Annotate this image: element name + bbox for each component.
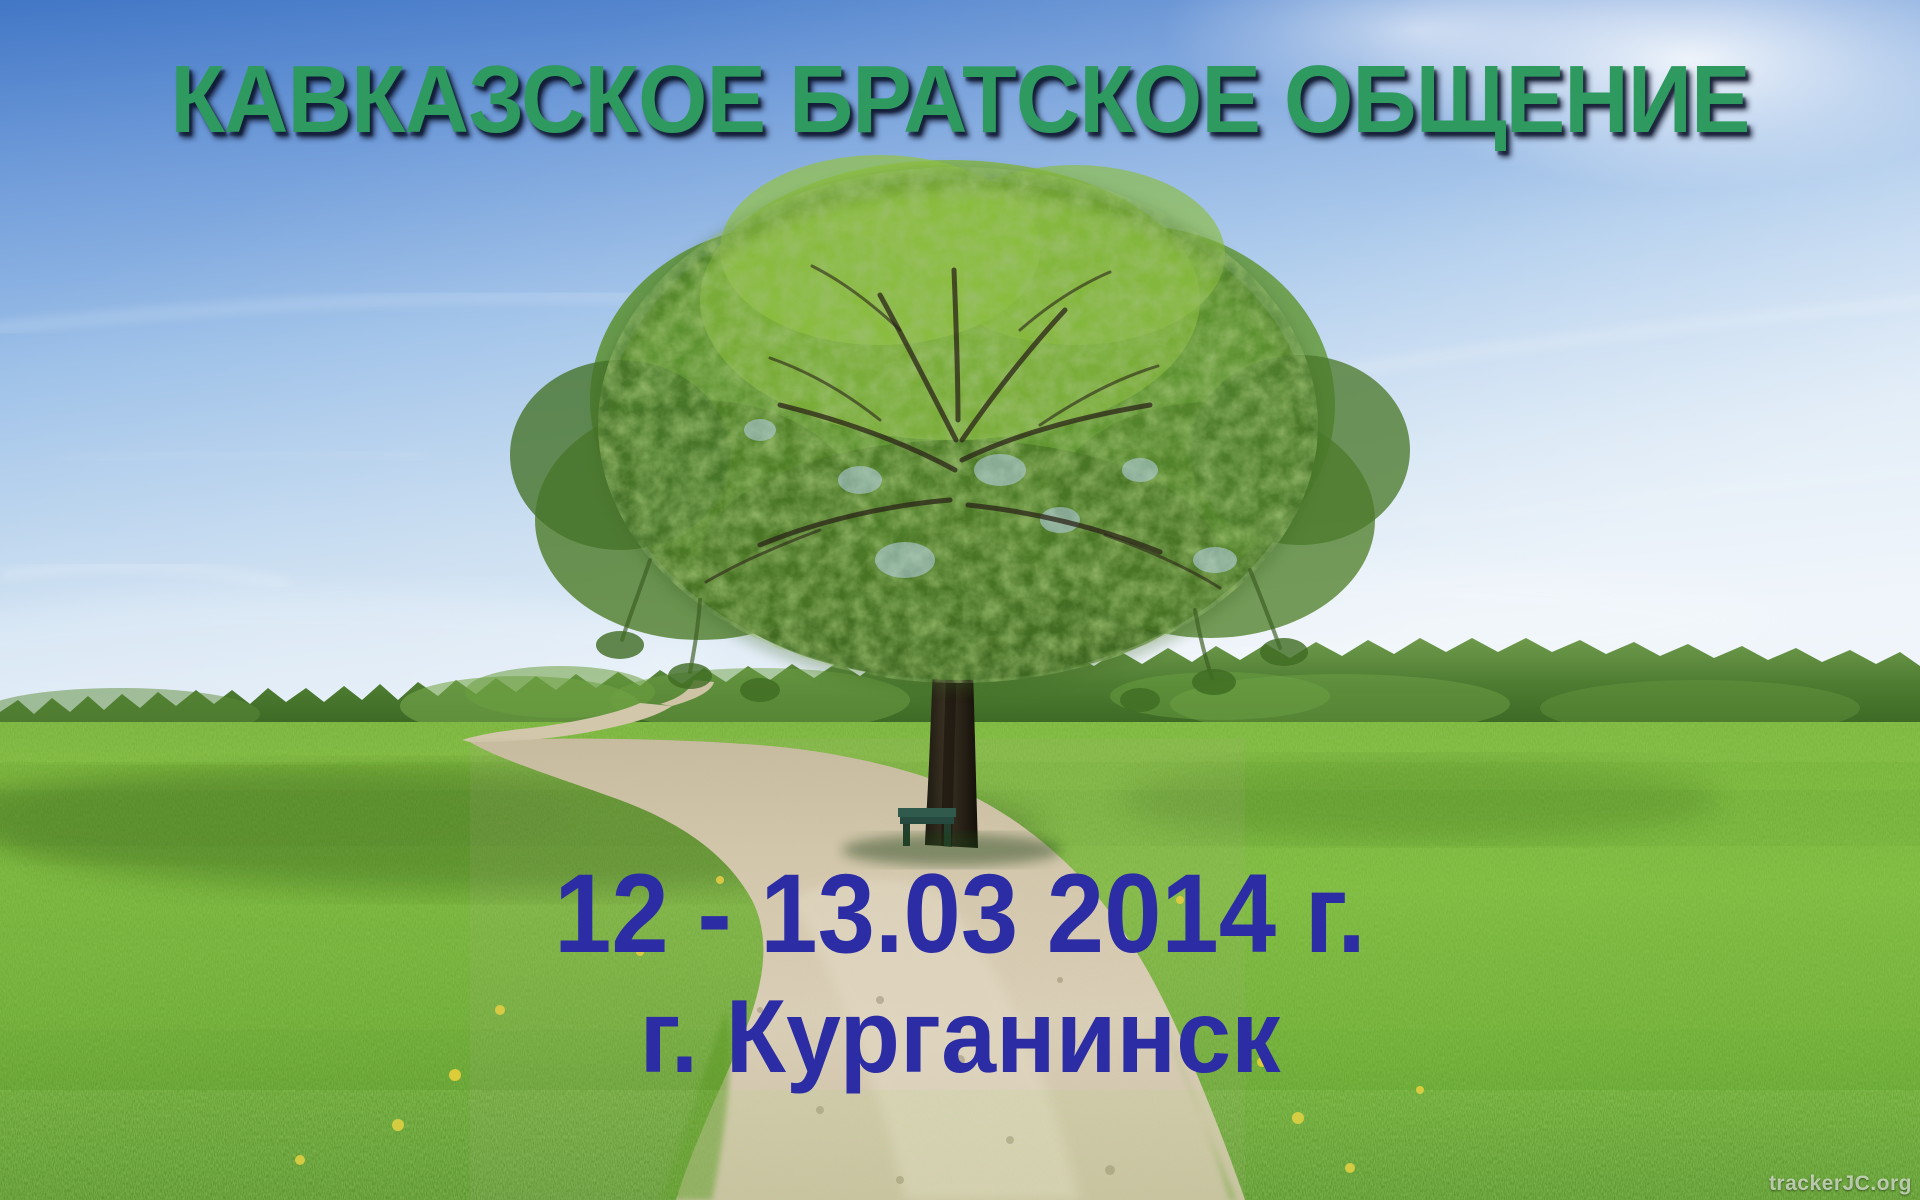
poster-title: КАВКАЗСКОЕ БРАТСКОЕ ОБЩЕНИЕ [67,52,1853,148]
foreground-grass [0,1090,1920,1200]
site-watermark: trackerJC.org [1769,1172,1912,1196]
event-date: 12 - 13.03 2014 г. [77,858,1843,970]
event-city: г. Курганинск [48,985,1872,1089]
poster-image: КАВКАЗСКОЕ БРАТСКОЕ ОБЩЕНИЕ 12 - 13.03 2… [0,0,1920,1200]
